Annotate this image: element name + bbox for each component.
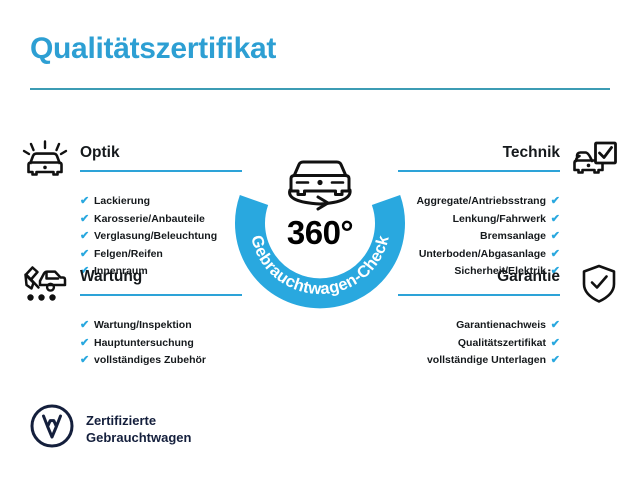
check-icon: ✔ <box>80 228 89 246</box>
list-item-label: Qualitätszertifikat <box>458 337 546 349</box>
section-wartung-title: Wartung <box>80 264 242 290</box>
section-optik-title: Optik <box>80 140 242 166</box>
check-icon: ✔ <box>80 352 89 370</box>
certificate-page: Qualitätszertifikat Optik <box>0 0 640 480</box>
check-icon: ✔ <box>551 246 560 264</box>
list-item: Bremsanlage✔ <box>398 228 560 246</box>
section-technik-divider <box>398 170 560 172</box>
section-technik: Technik Aggregate/Antriebsstrang✔ Lenkun… <box>398 140 618 281</box>
list-item: Qualitätszertifikat✔ <box>398 335 560 353</box>
section-wartung-header: Wartung <box>22 264 242 310</box>
check-icon: ✔ <box>551 211 560 229</box>
list-item: ✔Lackierung <box>80 193 242 211</box>
list-item-label: Lenkung/Fahrwerk <box>453 213 546 225</box>
badge-value: 360° <box>228 214 412 252</box>
list-item-label: Hauptuntersuchung <box>94 337 194 349</box>
volkswagen-logo <box>30 404 74 453</box>
section-technik-title: Technik <box>398 140 560 166</box>
check-icon: ✔ <box>80 335 89 353</box>
car-checkbox-icon <box>566 138 618 182</box>
list-item-label: Aggregate/Antriebsstrang <box>416 195 546 207</box>
list-item-label: Bremsanlage <box>480 230 546 242</box>
title-divider <box>30 88 610 90</box>
section-optik-header: Optik <box>22 140 242 186</box>
list-item-label: Verglasung/Beleuchtung <box>94 230 217 242</box>
list-item: Garantienachweis✔ <box>398 317 560 335</box>
check-icon: ✔ <box>551 193 560 211</box>
section-technik-header: Technik <box>398 140 618 186</box>
brand-line-2: Gebrauchtwagen <box>86 430 191 445</box>
section-garantie-list: Garantienachweis✔ Qualitätszertifikat✔ v… <box>398 317 560 370</box>
list-item-label: Karosserie/Anbauteile <box>94 213 205 225</box>
check-icon: ✔ <box>80 193 89 211</box>
list-item: vollständige Unterlagen✔ <box>398 352 560 370</box>
list-item-label: Felgen/Reifen <box>94 248 163 260</box>
list-item-label: Unterboden/Abgasanlage <box>419 248 546 260</box>
list-item: ✔Karosserie/Anbauteile <box>80 211 242 229</box>
brand-line-1: Zertifizierte <box>86 413 156 428</box>
list-item: ✔Felgen/Reifen <box>80 246 242 264</box>
list-item: ✔Wartung/Inspektion <box>80 317 242 335</box>
section-optik: Optik ✔Lackierung ✔Karosserie/Anbauteile… <box>22 140 242 281</box>
check-icon: ✔ <box>80 317 89 335</box>
list-item-label: Garantienachweis <box>456 319 546 331</box>
section-optik-divider <box>80 170 242 172</box>
section-garantie-divider <box>398 294 560 296</box>
brand-text: ZertifizierteGebrauchtwagen <box>86 412 191 446</box>
check-icon: ✔ <box>551 317 560 335</box>
check-icon: ✔ <box>551 335 560 353</box>
shield-check-icon <box>566 262 618 306</box>
list-item: Aggregate/Antriebsstrang✔ <box>398 193 560 211</box>
check-icon: ✔ <box>551 352 560 370</box>
section-garantie-header: Garantie <box>398 264 618 310</box>
section-garantie: Garantie Garantienachweis✔ Qualitätszert… <box>398 264 618 370</box>
check-icon: ✔ <box>80 211 89 229</box>
car-shine-icon <box>22 138 74 182</box>
list-item-label: Lackierung <box>94 195 150 207</box>
list-item-label: vollständige Unterlagen <box>427 354 546 366</box>
brand-lockup: ZertifizierteGebrauchtwagen <box>30 404 191 453</box>
list-item: Lenkung/Fahrwerk✔ <box>398 211 560 229</box>
page-title: Qualitätszertifikat <box>30 32 276 66</box>
section-wartung-list: ✔Wartung/Inspektion ✔Hauptuntersuchung ✔… <box>80 317 242 370</box>
check-icon: ✔ <box>80 246 89 264</box>
list-item: ✔Verglasung/Beleuchtung <box>80 228 242 246</box>
service-book-pen-car-icon <box>22 262 74 306</box>
badge-360-check: Gebrauchtwagen-Check 360° <box>228 128 412 312</box>
section-wartung: Wartung ✔Wartung/Inspektion ✔Hauptunters… <box>22 264 242 370</box>
list-item: ✔vollständiges Zubehör <box>80 352 242 370</box>
section-wartung-divider <box>80 294 242 296</box>
list-item: ✔Hauptuntersuchung <box>80 335 242 353</box>
list-item-label: vollständiges Zubehör <box>94 354 206 366</box>
section-garantie-title: Garantie <box>398 264 560 290</box>
list-item-label: Wartung/Inspektion <box>94 319 192 331</box>
list-item: Unterboden/Abgasanlage✔ <box>398 246 560 264</box>
check-icon: ✔ <box>551 228 560 246</box>
